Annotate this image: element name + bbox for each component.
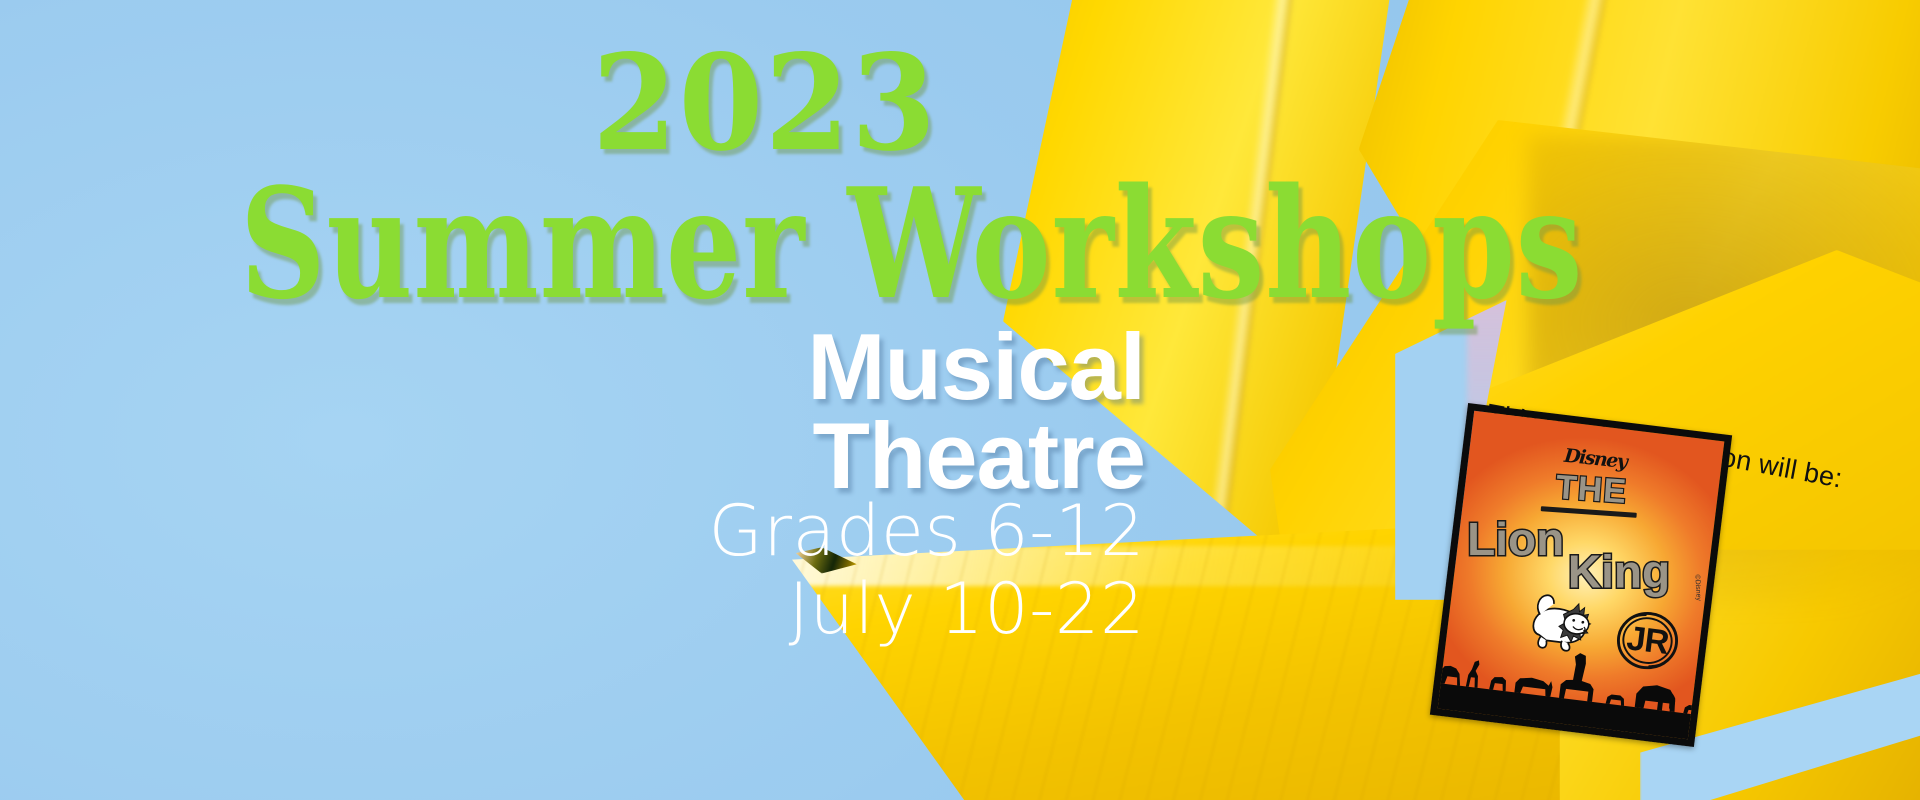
year-heading: 2023 xyxy=(61,38,1469,170)
poster-artwork: Disney THE Lion King ©Disney xyxy=(1438,411,1725,739)
grades-text: Grades 6-12 xyxy=(700,492,1145,570)
summer-workshops-heading: Summer Workshops xyxy=(240,168,1090,320)
program-title-line1: Musical xyxy=(700,322,1145,411)
program-details: Grades 6-12 July 10-22 xyxy=(700,492,1145,649)
program-title-line2: Theatre xyxy=(700,411,1145,500)
dates-text: July 10-22 xyxy=(700,570,1145,648)
program-title: Musical Theatre xyxy=(700,322,1145,501)
lion-king-jr-poster[interactable]: Disney THE Lion King ©Disney xyxy=(1430,403,1732,747)
promotional-banner: 2023 Summer Workshops Musical Theatre Gr… xyxy=(0,0,1920,800)
